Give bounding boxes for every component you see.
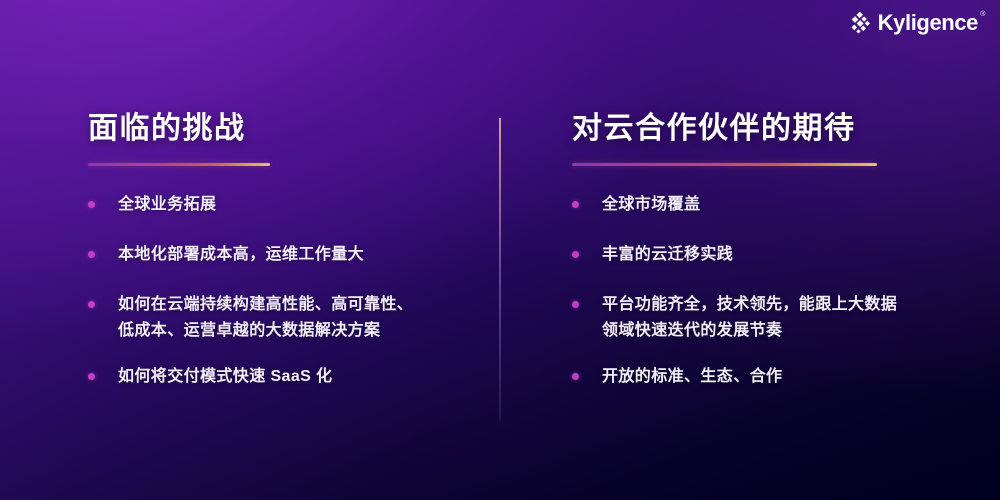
- column-title-expectations: 对云合作伙伴的期待: [572, 112, 1000, 145]
- bullet-line: 平台功能齐全，技术领先，能跟上大数据: [602, 292, 897, 318]
- bullet-text: 开放的标准、生态、合作: [602, 364, 782, 390]
- list-item: 本地化部署成本高，运维工作量大: [88, 242, 500, 268]
- bullet-dot-icon: [572, 301, 579, 308]
- bullet-dot-icon: [88, 301, 95, 308]
- bullet-line: 丰富的云迁移实践: [602, 242, 733, 268]
- bullet-text: 本地化部署成本高，运维工作量大: [118, 242, 364, 268]
- bullet-dot-icon: [572, 251, 579, 258]
- bullet-text: 平台功能齐全，技术领先，能跟上大数据 领域快速迭代的发展节奏: [602, 292, 897, 344]
- trademark-symbol: ®: [980, 11, 985, 18]
- bullet-text: 如何在云端持续构建高性能、高可靠性、 低成本、运营卓越的大数据解决方案: [118, 292, 413, 344]
- brand-name-text: Kyligence: [878, 10, 978, 35]
- bullet-dot-icon: [572, 201, 579, 208]
- list-item: 如何将交付模式快速 SaaS 化: [88, 364, 500, 390]
- column-divider: [499, 118, 501, 420]
- slide-canvas: Kyligence® 面临的挑战 全球业务拓展 本地化部署成本高，运维工作量大: [0, 0, 1000, 500]
- column-title-challenges: 面临的挑战: [88, 112, 500, 145]
- title-underline-expectations: [572, 163, 877, 166]
- bullet-line: 全球市场覆盖: [602, 192, 700, 218]
- bullet-list-expectations: 全球市场覆盖 丰富的云迁移实践 平台功能齐全，技术领先，能跟上大数据 领域快速迭…: [572, 192, 1000, 390]
- bullet-text: 如何将交付模式快速 SaaS 化: [118, 364, 332, 390]
- bullet-dot-icon: [88, 251, 95, 258]
- kyligence-diamond-mark-icon: [849, 12, 871, 34]
- bullet-line: 全球业务拓展: [118, 192, 216, 218]
- bullet-dot-icon: [88, 373, 95, 380]
- list-item: 全球市场覆盖: [572, 192, 1000, 218]
- brand-logo: Kyligence®: [849, 12, 978, 34]
- bullet-list-challenges: 全球业务拓展 本地化部署成本高，运维工作量大 如何在云端持续构建高性能、高可靠性…: [88, 192, 500, 390]
- bullet-line: 低成本、运营卓越的大数据解决方案: [118, 318, 413, 344]
- bullet-line: 如何将交付模式快速 SaaS 化: [118, 364, 332, 390]
- list-item: 如何在云端持续构建高性能、高可靠性、 低成本、运营卓越的大数据解决方案: [88, 292, 500, 344]
- list-item: 全球业务拓展: [88, 192, 500, 218]
- list-item: 开放的标准、生态、合作: [572, 364, 1000, 390]
- bullet-text: 全球市场覆盖: [602, 192, 700, 218]
- bullet-dot-icon: [88, 201, 95, 208]
- bullet-line: 如何在云端持续构建高性能、高可靠性、: [118, 292, 413, 318]
- bullet-dot-icon: [572, 373, 579, 380]
- bullet-line: 领域快速迭代的发展节奏: [602, 318, 897, 344]
- list-item: 平台功能齐全，技术领先，能跟上大数据 领域快速迭代的发展节奏: [572, 292, 1000, 344]
- title-underline-challenges: [88, 163, 270, 166]
- column-cloud-partner-expectations: 对云合作伙伴的期待 全球市场覆盖 丰富的云迁移实践: [500, 0, 1000, 500]
- bullet-line: 开放的标准、生态、合作: [602, 364, 782, 390]
- brand-name: Kyligence®: [878, 12, 978, 34]
- list-item: 丰富的云迁移实践: [572, 242, 1000, 268]
- bullet-text: 全球业务拓展: [118, 192, 216, 218]
- bullet-text: 丰富的云迁移实践: [602, 242, 733, 268]
- bullet-line: 本地化部署成本高，运维工作量大: [118, 242, 364, 268]
- column-challenges: 面临的挑战 全球业务拓展 本地化部署成本高，运维工作量大: [0, 0, 500, 500]
